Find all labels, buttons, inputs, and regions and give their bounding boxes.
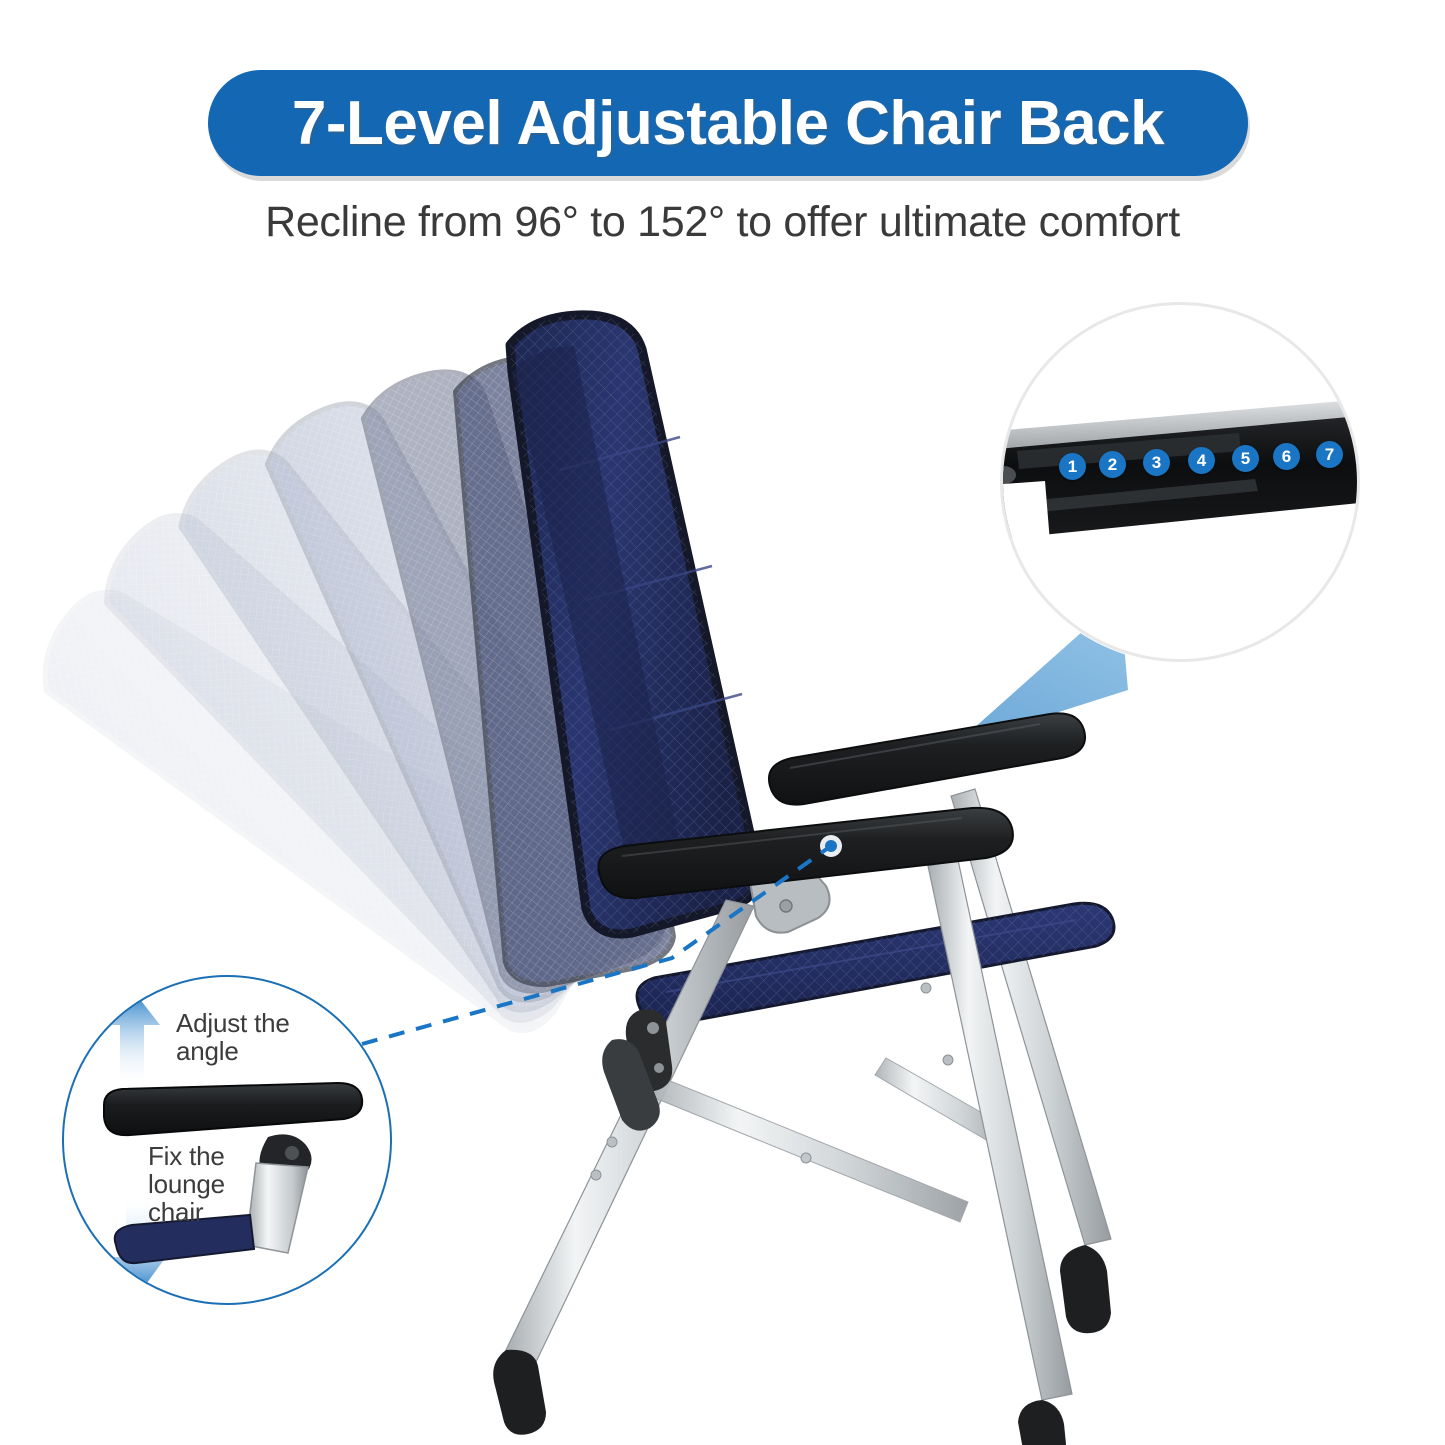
level-badge-2[interactable]: 2	[1099, 451, 1126, 478]
level-badge-1[interactable]: 1	[1059, 453, 1086, 480]
level-badge-5[interactable]: 5	[1232, 445, 1259, 472]
callout-adjust-circle: Adjust the angle Fix the lounge chair	[62, 975, 392, 1305]
level-badge-3[interactable]: 3	[1143, 449, 1170, 476]
level-badge-row: 1 2 3 4 5 6 7	[1003, 305, 1360, 495]
infographic-canvas: 7-Level Adjustable Chair Back Recline fr…	[0, 0, 1445, 1445]
fix-chair-label: Fix the lounge chair	[148, 1142, 288, 1226]
arrow-up-icon	[104, 989, 160, 1087]
level-badge-6[interactable]: 6	[1273, 443, 1300, 470]
adjust-angle-line-1: Adjust the	[176, 1009, 326, 1037]
callout-levels-circle: 1 2 3 4 5 6 7	[1000, 302, 1360, 662]
fix-chair-line-1: Fix the	[148, 1142, 288, 1170]
adjust-angle-label: Adjust the angle	[176, 1009, 326, 1065]
armrest-shape	[104, 1083, 362, 1135]
fix-chair-line-2: lounge	[148, 1170, 288, 1198]
adjust-angle-line-2: angle	[176, 1037, 326, 1065]
armrest-far	[769, 713, 1085, 804]
level-badge-4[interactable]: 4	[1188, 447, 1215, 474]
fix-chair-line-3: chair	[148, 1198, 288, 1226]
level-badge-7[interactable]: 7	[1316, 441, 1343, 468]
